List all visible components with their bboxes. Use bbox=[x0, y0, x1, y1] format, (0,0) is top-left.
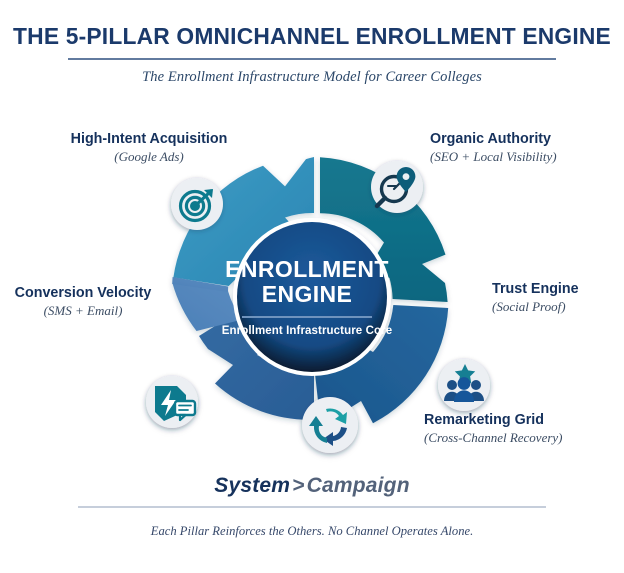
tagline: System>Campaign bbox=[0, 474, 624, 498]
pillar-subtitle: (Social Proof) bbox=[492, 299, 612, 315]
footer-divider bbox=[78, 506, 546, 508]
header: THE 5-PILLAR OMNICHANNEL ENROLLMENT ENGI… bbox=[0, 0, 624, 86]
icon-badge-conversion[interactable] bbox=[146, 376, 198, 428]
pillar-subtitle: (SEO + Local Visibility) bbox=[430, 149, 610, 165]
pillar-label-acquisition[interactable]: High-Intent Acquisition (Google Ads) bbox=[58, 131, 240, 165]
page-title: THE 5-PILLAR OMNICHANNEL ENROLLMENT ENGI… bbox=[9, 0, 614, 49]
pillar-title: Organic Authority bbox=[430, 131, 610, 147]
tagline-gt: > bbox=[290, 474, 306, 497]
footer-note: Each Pillar Reinforces the Others. No Ch… bbox=[0, 524, 624, 539]
pillar-title: High-Intent Acquisition bbox=[58, 131, 240, 147]
footer: System>Campaign Each Pillar Reinforces t… bbox=[0, 474, 624, 539]
pillar-label-remarketing[interactable]: Remarketing Grid (Cross-Channel Recovery… bbox=[424, 412, 614, 446]
tagline-system: System bbox=[214, 474, 290, 497]
pillar-title: Remarketing Grid bbox=[424, 412, 614, 428]
tagline-campaign: Campaign bbox=[307, 474, 410, 497]
icon-badge-trust[interactable] bbox=[438, 359, 490, 411]
pillar-subtitle: (SMS + Email) bbox=[8, 303, 158, 319]
pillar-subtitle: (Cross-Channel Recovery) bbox=[424, 430, 614, 446]
pillar-title: Conversion Velocity bbox=[8, 285, 158, 301]
icon-badge-remarketing[interactable] bbox=[302, 397, 358, 453]
pillar-title: Trust Engine bbox=[492, 281, 612, 297]
title-divider bbox=[68, 58, 556, 60]
core-circle[interactable] bbox=[237, 222, 387, 372]
page-subtitle: The Enrollment Infrastructure Model for … bbox=[0, 69, 624, 86]
icon-badge-organic[interactable] bbox=[371, 161, 423, 213]
pillar-label-organic[interactable]: Organic Authority (SEO + Local Visibilit… bbox=[430, 131, 610, 165]
pillar-label-trust[interactable]: Trust Engine (Social Proof) bbox=[492, 281, 612, 315]
pillar-subtitle: (Google Ads) bbox=[58, 149, 240, 165]
infographic-canvas: THE 5-PILLAR OMNICHANNEL ENROLLMENT ENGI… bbox=[0, 0, 624, 573]
pillar-label-conversion[interactable]: Conversion Velocity (SMS + Email) bbox=[8, 285, 158, 319]
icon-badge-acquisition[interactable] bbox=[171, 178, 223, 230]
